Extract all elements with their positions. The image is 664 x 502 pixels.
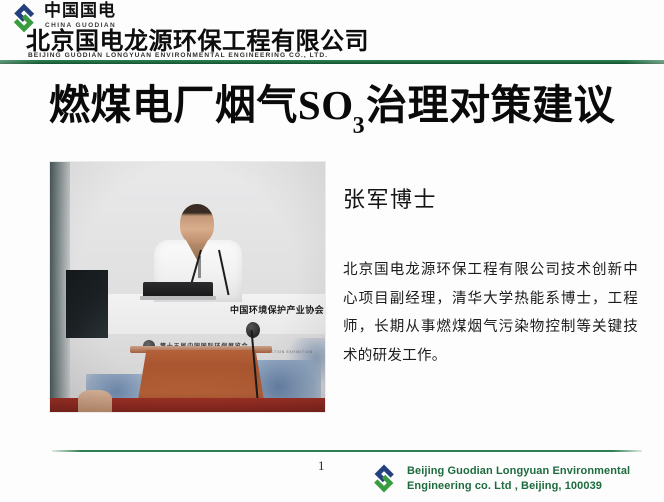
photo-vignette	[50, 162, 325, 412]
slide-title: 燃煤电厂烟气SO3治理对策建议	[0, 80, 664, 146]
footer-divider	[52, 450, 642, 452]
title-chemical-subscript: 3	[353, 113, 366, 139]
header-divider-gloss	[0, 60, 664, 64]
presentation-slide: 中国国电 CHINA GUODIAN 北京国电龙源环保工程有限公司 BEIJIN…	[0, 0, 664, 502]
speaker-biography: 北京国电龙源环保工程有限公司技术创新中心项目副经理，清华大学热能系博士，工程师，…	[343, 256, 638, 370]
title-chemical-formula: SO	[298, 82, 354, 128]
footer-line-1: Beijing Guodian Longyuan Environmental	[407, 464, 657, 479]
footer-company-address: Beijing Guodian Longyuan Environmental E…	[407, 464, 657, 493]
company-name-en: BEIJING GUODIAN LONGYUAN ENVIRONMENTAL E…	[28, 52, 328, 59]
speaker-name: 张军博士	[343, 182, 437, 214]
company-name-cn: 北京国电龙源环保工程有限公司	[26, 28, 369, 54]
brand-name-cn: 中国国电	[44, 2, 116, 21]
title-part-2: 治理对策建议	[366, 81, 615, 129]
title-part-1: 燃煤电厂烟气	[49, 81, 298, 129]
speaker-photo: 中国环境保护产业协会 第十五届中国国际环保展览会 CHINA INTERNATI…	[50, 162, 325, 412]
slide-header: 中国国电 CHINA GUODIAN 北京国电龙源环保工程有限公司 BEIJIN…	[0, 0, 664, 66]
footer-line-2: Engineering co. Ltd , Beijing, 100039	[407, 479, 657, 494]
page-number: 1	[318, 458, 325, 474]
footer-guodian-diamond-logo-icon	[367, 464, 401, 493]
